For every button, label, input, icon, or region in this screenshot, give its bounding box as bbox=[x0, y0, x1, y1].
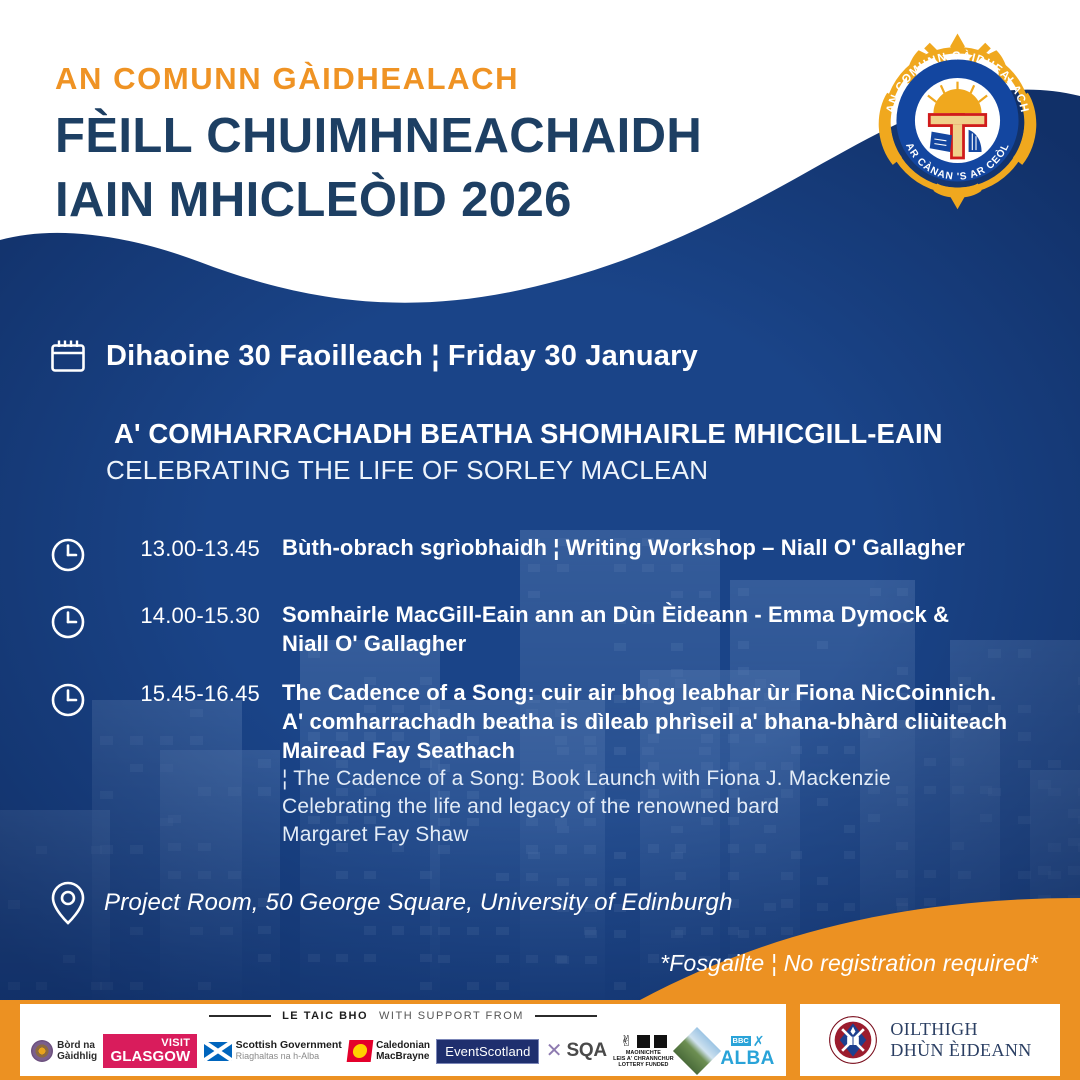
visit-glasgow-line2: GLASGOW bbox=[110, 1049, 190, 1064]
sponsor-eventscotland: EventScotland bbox=[436, 1039, 539, 1064]
sponsor-visit-glasgow: VISIT GLASGOW bbox=[103, 1034, 197, 1069]
orange-curve-shape bbox=[0, 880, 1080, 1000]
lottery-line1: MAOINICHTE bbox=[626, 1050, 661, 1056]
schedule-item-time: 15.45-16.45 bbox=[92, 678, 282, 707]
bord-na-gaidhlig-line2: Gàidhlig bbox=[57, 1051, 97, 1062]
university-of-edinburgh-crest-icon bbox=[828, 1015, 878, 1065]
date-text: Dihaoine 30 Faoilleach ¦ Friday 30 Janua… bbox=[106, 340, 698, 373]
schedule-item-line-bold: Niall O' Gallagher bbox=[282, 629, 1058, 658]
schedule-item-line-light: ¦ The Cadence of a Song: Book Launch wit… bbox=[282, 765, 1058, 793]
date-row: Dihaoine 30 Faoilleach ¦ Friday 30 Janua… bbox=[48, 336, 698, 376]
schedule-item-line-bold: The Cadence of a Song: cuir air bhog lea… bbox=[282, 678, 1058, 707]
saltire-flag-icon bbox=[204, 1042, 232, 1061]
event-title-gaelic: A' COMHARRACHADH BEATHA SHOMHAIRLE MHICG… bbox=[114, 418, 1064, 450]
bbc-label: BBC bbox=[731, 1036, 751, 1046]
alba-label: ALBA bbox=[720, 1049, 774, 1068]
schedule-item-line-bold: Bùth-obrach sgrìobhaidh ¦ Writing Worksh… bbox=[282, 533, 1058, 562]
schedule-item-body: Somhairle MacGill-Eain ann an Dùn Èidean… bbox=[282, 600, 1058, 658]
lottery-block-icon-1 bbox=[637, 1035, 650, 1048]
sponsor-logos: Bòrd na Gàidhlig VISIT GLASGOW Scottish … bbox=[20, 1028, 786, 1074]
schedule-item: 15.45-16.45The Cadence of a Song: cuir a… bbox=[48, 678, 1058, 849]
sqa-label: SQA bbox=[567, 1040, 607, 1062]
schedule-item: 13.00-13.45Bùth-obrach sgrìobhaidh ¦ Wri… bbox=[48, 533, 1058, 580]
schedule-item-line-bold: Mairead Fay Seathach bbox=[282, 736, 1058, 765]
schedule-item-icon bbox=[48, 600, 92, 647]
lottery-line3: LOTTERY FUNDED bbox=[618, 1062, 668, 1068]
support-rule-left bbox=[209, 1015, 271, 1017]
schedule-list: 13.00-13.45Bùth-obrach sgrìobhaidh ¦ Wri… bbox=[48, 533, 1058, 870]
schedule-item-body: The Cadence of a Song: cuir air bhog lea… bbox=[282, 678, 1058, 849]
event-title-block: A' COMHARRACHADH BEATHA SHOMHAIRLE MHICG… bbox=[114, 418, 1064, 487]
macbrayne-lion-icon bbox=[347, 1040, 374, 1062]
sponsor-scottish-government: Scottish Government Riaghaltas na h-Alba bbox=[204, 1040, 342, 1061]
sponsor-caledonian-macbrayne: Caledonian MacBrayne bbox=[348, 1040, 430, 1063]
sponsor-diamond-landscape bbox=[673, 1027, 721, 1075]
support-label-gaelic: LE TAIC BHO bbox=[282, 1010, 368, 1022]
edinburgh-line1: OILTHIGH bbox=[890, 1019, 1031, 1040]
poster: AN COMUNN GÀIDHEALACH FÈILL CHUIMHNEACHA… bbox=[0, 0, 1080, 1080]
calendar-icon bbox=[48, 336, 88, 376]
schedule-item-line-bold: A' comharrachadh beatha is dìleab phrìse… bbox=[282, 707, 1058, 736]
main-content: Dihaoine 30 Faoilleach ¦ Friday 30 Janua… bbox=[0, 0, 1080, 1000]
support-label-english: WITH SUPPORT FROM bbox=[379, 1010, 524, 1022]
schedule-item: 14.00-15.30Somhairle MacGill-Eain ann an… bbox=[48, 600, 1058, 658]
edinburgh-line2: DHÙN ÈIDEANN bbox=[890, 1040, 1031, 1061]
sponsor-lottery-funded: ✌ MAOINICHTE LEIS A' CHRANNCHUR LOTTERY … bbox=[613, 1034, 674, 1069]
schedule-item-icon bbox=[48, 533, 92, 580]
university-of-edinburgh-panel: OILTHIGH DHÙN ÈIDEANN bbox=[800, 1004, 1060, 1076]
caledonian-macbrayne-line1: Caledonian bbox=[376, 1040, 430, 1051]
bord-na-gaidhlig-line1: Bòrd na bbox=[57, 1040, 95, 1051]
sponsor-bbc-alba: BBC ✗ ALBA bbox=[720, 1034, 774, 1068]
support-line: LE TAIC BHO WITH SUPPORT FROM bbox=[20, 1010, 786, 1022]
schedule-item-line-bold: Somhairle MacGill-Eain ann an Dùn Èidean… bbox=[282, 600, 1058, 629]
clock-icon bbox=[48, 535, 88, 575]
scottish-government-line2: Riaghaltas na h-Alba bbox=[236, 1052, 342, 1062]
event-title-english: CELEBRATING THE LIFE OF SORLEY MACLEAN bbox=[106, 455, 1064, 486]
lottery-fingers-icon: ✌ bbox=[620, 1034, 633, 1049]
clock-icon bbox=[48, 602, 88, 642]
lottery-line2: LEIS A' CHRANNCHUR bbox=[613, 1056, 674, 1062]
sponsors-panel: LE TAIC BHO WITH SUPPORT FROM Bòrd na Gà… bbox=[20, 1004, 786, 1076]
schedule-item-body: Bùth-obrach sgrìobhaidh ¦ Writing Worksh… bbox=[282, 533, 1058, 562]
schedule-item-line-light: Margaret Fay Shaw bbox=[282, 821, 1058, 849]
schedule-item-time: 13.00-13.45 bbox=[92, 533, 282, 562]
schedule-item-line-light: Celebrating the life and legacy of the r… bbox=[282, 793, 1058, 821]
schedule-item-time: 14.00-15.30 bbox=[92, 600, 282, 629]
bbc-alba-x-icon: ✗ bbox=[753, 1034, 765, 1048]
bord-na-gaidhlig-swirl-icon bbox=[31, 1040, 53, 1062]
sponsor-bord-na-gaidhlig: Bòrd na Gàidhlig bbox=[31, 1040, 97, 1062]
registration-note: *Fosgailte ¦ No registration required* bbox=[660, 950, 1038, 977]
caledonian-macbrayne-line2: MacBrayne bbox=[376, 1051, 429, 1062]
lottery-block-icon-2 bbox=[654, 1035, 667, 1048]
sqa-x-icon: ✕ bbox=[546, 1041, 563, 1061]
sponsor-sqa: ✕ SQA bbox=[546, 1040, 607, 1062]
support-rule-right bbox=[535, 1015, 597, 1017]
schedule-item-icon bbox=[48, 678, 92, 725]
clock-icon bbox=[48, 680, 88, 720]
